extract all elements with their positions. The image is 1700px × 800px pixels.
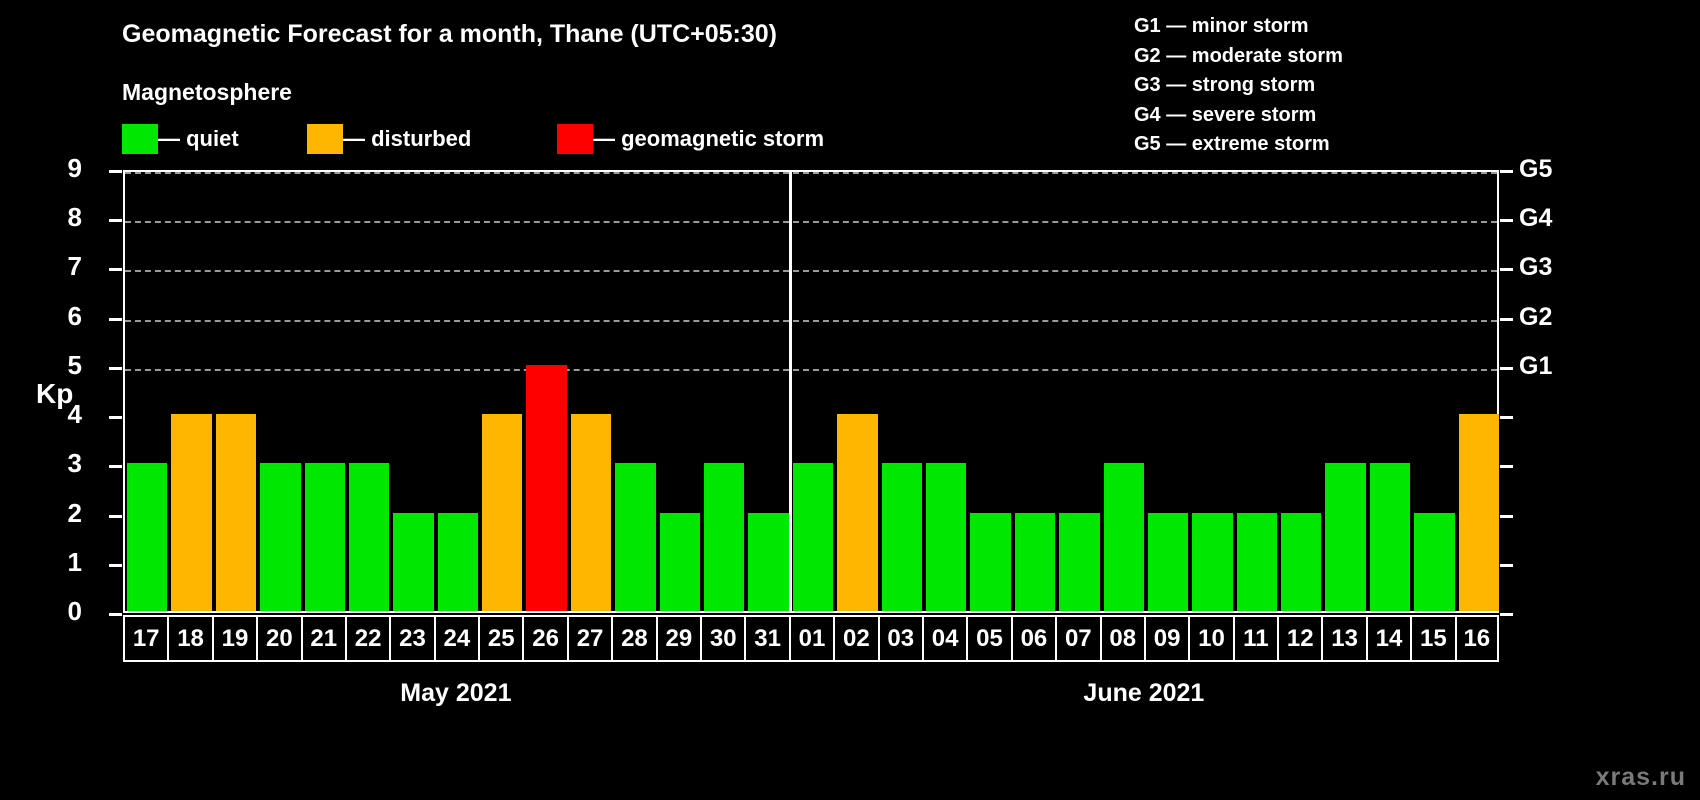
g-tick-mark-g2 — [1500, 318, 1513, 321]
y-tick-mark-6 — [109, 318, 122, 321]
day-label-may-17: 17 — [123, 617, 167, 660]
gridline-kp-7 — [125, 270, 1497, 272]
day-label-may-29: 29 — [656, 617, 700, 660]
legend-swatch-disturbed-icon — [307, 124, 343, 154]
day-label-june-13: 13 — [1321, 617, 1365, 660]
day-label-june-04: 04 — [922, 617, 966, 660]
day-label-june-07: 07 — [1055, 617, 1099, 660]
legend-heading: Magnetosphere — [122, 79, 292, 106]
y-tick-label-5: 5 — [42, 352, 82, 378]
g-tick-label-g4: G4 — [1519, 206, 1552, 231]
gscale-legend: G1 — minor stormG2 — moderate stormG3 — … — [1134, 12, 1343, 160]
y-tick-label-4: 4 — [42, 401, 82, 427]
y-tick-mark-1 — [109, 564, 122, 567]
g-tick-mark-g5 — [1500, 170, 1513, 173]
bar-june-03[interactable] — [882, 463, 922, 611]
month-divider — [789, 172, 792, 611]
day-label-may-31: 31 — [744, 617, 788, 660]
watermark: xras.ru — [1596, 763, 1686, 792]
day-label-may-18: 18 — [167, 617, 211, 660]
bar-may-31[interactable] — [748, 513, 788, 611]
g-tick-label-g5: G5 — [1519, 157, 1552, 182]
y-tick-label-8: 8 — [42, 204, 82, 230]
legend-label-disturbed: — disturbed — [343, 128, 471, 150]
bar-june-10[interactable] — [1192, 513, 1232, 611]
day-label-june-16: 16 — [1455, 617, 1499, 660]
bar-june-02[interactable] — [837, 414, 877, 611]
bar-may-23[interactable] — [393, 513, 433, 611]
y-tick-mark-2 — [109, 515, 122, 518]
gridline-kp-6 — [125, 320, 1497, 322]
bar-june-16[interactable] — [1459, 414, 1499, 611]
g-tick-mark-g1 — [1500, 367, 1513, 370]
gscale-line-g5: G5 — extreme storm — [1134, 130, 1343, 160]
day-label-may-24: 24 — [434, 617, 478, 660]
bar-may-28[interactable] — [615, 463, 655, 611]
day-axis: 1718192021222324252627282930310102030405… — [123, 615, 1499, 662]
bar-may-29[interactable] — [660, 513, 700, 611]
plot-inner — [125, 172, 1497, 611]
gscale-line-g1: G1 — minor storm — [1134, 12, 1343, 42]
g-tick-label-g3: G3 — [1519, 255, 1552, 280]
bar-june-04[interactable] — [926, 463, 966, 611]
bar-may-17[interactable] — [127, 463, 167, 611]
y-tick-mark-3 — [109, 465, 122, 468]
y-tick-label-3: 3 — [42, 450, 82, 476]
gscale-line-g2: G2 — moderate storm — [1134, 42, 1343, 72]
day-label-may-27: 27 — [567, 617, 611, 660]
day-label-june-02: 02 — [833, 617, 877, 660]
y-tick-mark-5 — [109, 367, 122, 370]
bar-june-08[interactable] — [1104, 463, 1144, 611]
gscale-line-g4: G4 — severe storm — [1134, 101, 1343, 131]
g-minor-tick-0 — [1500, 613, 1513, 616]
y-tick-mark-4 — [109, 416, 122, 419]
g-minor-tick-4 — [1500, 416, 1513, 419]
y-tick-mark-9 — [109, 170, 122, 173]
gridline-kp-9 — [125, 172, 1497, 174]
legend-item-geomagnetic-storm: — geomagnetic storm — [557, 122, 824, 156]
y-tick-mark-7 — [109, 268, 122, 271]
y-tick-label-2: 2 — [42, 500, 82, 526]
legend-label-geomagnetic-storm: — geomagnetic storm — [593, 128, 824, 150]
day-label-june-14: 14 — [1366, 617, 1410, 660]
y-tick-label-9: 9 — [42, 155, 82, 181]
bar-june-01[interactable] — [793, 463, 833, 611]
day-label-may-19: 19 — [212, 617, 256, 660]
bar-june-07[interactable] — [1059, 513, 1099, 611]
legend-swatch-quiet-icon — [122, 124, 158, 154]
bar-may-25[interactable] — [482, 414, 522, 611]
day-label-june-01: 01 — [789, 617, 833, 660]
bar-may-30[interactable] — [704, 463, 744, 611]
y-tick-label-0: 0 — [42, 598, 82, 624]
day-label-june-15: 15 — [1410, 617, 1454, 660]
day-label-may-20: 20 — [256, 617, 300, 660]
gridline-kp-8 — [125, 221, 1497, 223]
day-label-may-23: 23 — [389, 617, 433, 660]
bar-may-27[interactable] — [571, 414, 611, 611]
y-tick-label-6: 6 — [42, 303, 82, 329]
bar-june-11[interactable] — [1237, 513, 1277, 611]
y-tick-mark-0 — [109, 613, 122, 616]
month-caption-may: May 2021 — [306, 679, 606, 708]
day-label-may-22: 22 — [345, 617, 389, 660]
g-tick-mark-g3 — [1500, 268, 1513, 271]
day-label-may-28: 28 — [611, 617, 655, 660]
bar-may-26[interactable] — [526, 365, 566, 611]
legend-swatch-geomagnetic-storm-icon — [557, 124, 593, 154]
plot-area — [123, 170, 1499, 613]
g-minor-tick-3 — [1500, 465, 1513, 468]
day-label-june-10: 10 — [1188, 617, 1232, 660]
bar-june-05[interactable] — [970, 513, 1010, 611]
y-tick-mark-8 — [109, 219, 122, 222]
bar-june-06[interactable] — [1015, 513, 1055, 611]
page-title: Geomagnetic Forecast for a month, Thane … — [122, 20, 777, 49]
day-label-june-12: 12 — [1277, 617, 1321, 660]
bar-may-18[interactable] — [171, 414, 211, 611]
month-caption-june: June 2021 — [994, 679, 1294, 708]
bar-may-19[interactable] — [216, 414, 256, 611]
day-label-june-11: 11 — [1233, 617, 1277, 660]
day-label-may-26: 26 — [522, 617, 566, 660]
bar-june-14[interactable] — [1370, 463, 1410, 611]
day-label-june-06: 06 — [1011, 617, 1055, 660]
day-label-june-03: 03 — [878, 617, 922, 660]
y-tick-label-7: 7 — [42, 253, 82, 279]
day-label-may-30: 30 — [700, 617, 744, 660]
legend-item-disturbed: — disturbed — [307, 122, 471, 156]
gridline-kp-5 — [125, 369, 1497, 371]
day-label-may-25: 25 — [478, 617, 522, 660]
bar-may-21[interactable] — [305, 463, 345, 611]
g-tick-label-g2: G2 — [1519, 305, 1552, 330]
gscale-line-g3: G3 — strong storm — [1134, 71, 1343, 101]
day-label-may-21: 21 — [301, 617, 345, 660]
day-label-june-05: 05 — [966, 617, 1010, 660]
bar-june-09[interactable] — [1148, 513, 1188, 611]
bar-june-12[interactable] — [1281, 513, 1321, 611]
legend-item-quiet: — quiet — [122, 122, 239, 156]
bar-may-24[interactable] — [438, 513, 478, 611]
bar-june-13[interactable] — [1325, 463, 1365, 611]
day-label-june-09: 09 — [1144, 617, 1188, 660]
g-tick-mark-g4 — [1500, 219, 1513, 222]
day-label-june-08: 08 — [1100, 617, 1144, 660]
g-tick-label-g1: G1 — [1519, 354, 1552, 379]
g-minor-tick-2 — [1500, 515, 1513, 518]
y-tick-label-1: 1 — [42, 549, 82, 575]
magnetosphere-legend: — quiet— disturbed— geomagnetic storm — [122, 122, 922, 156]
bar-june-15[interactable] — [1414, 513, 1454, 611]
legend-label-quiet: — quiet — [158, 128, 239, 150]
bar-may-20[interactable] — [260, 463, 300, 611]
g-minor-tick-1 — [1500, 564, 1513, 567]
bar-may-22[interactable] — [349, 463, 389, 611]
